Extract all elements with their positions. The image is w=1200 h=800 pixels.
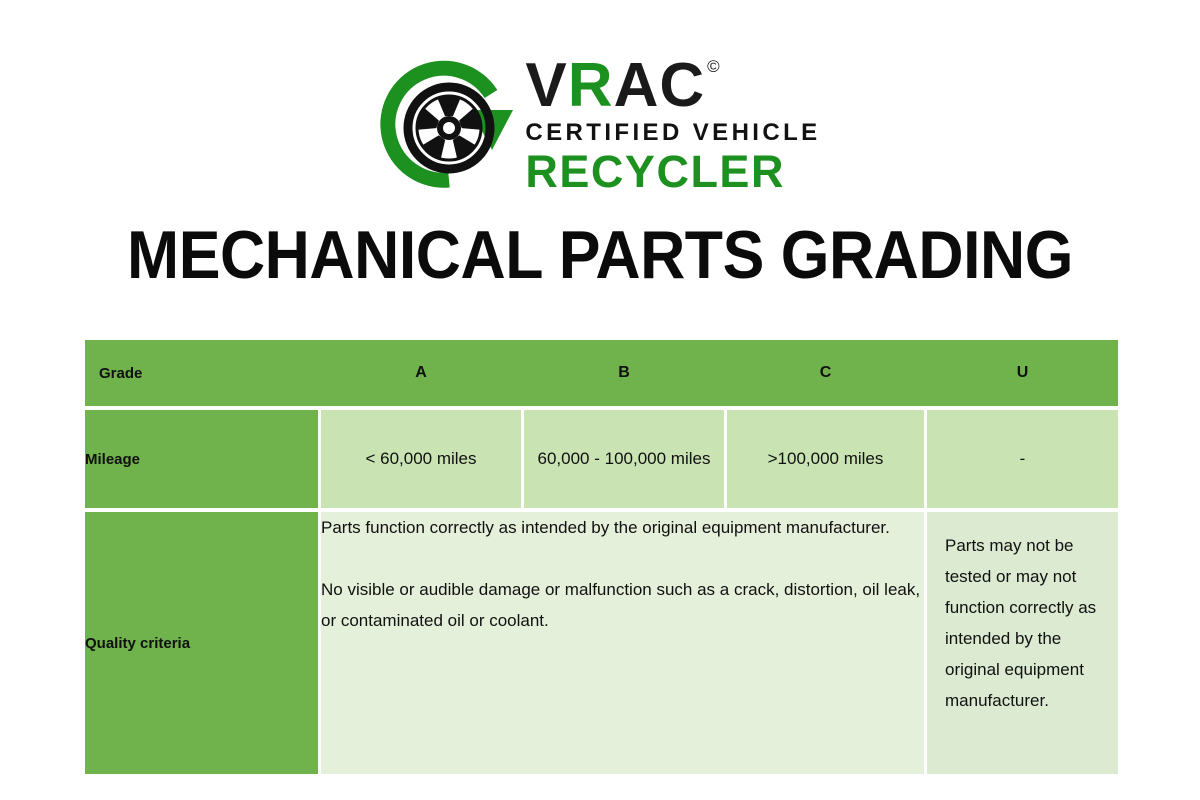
quality-paragraph-2: No visible or audible damage or malfunct… (321, 574, 924, 636)
page-title: MECHANICAL PARTS GRADING (48, 216, 1152, 294)
header-cell-b: B (524, 340, 724, 406)
logo-wordmark: VRAC© CERTIFIED VEHICLE RECYCLER (525, 52, 820, 196)
cell-mileage-u: - (927, 410, 1118, 508)
cell-mileage-b: 60,000 - 100,000 miles (524, 410, 724, 508)
logo-vrac: VRAC© (525, 54, 718, 118)
table-header-row: Grade A B C U (85, 340, 1118, 406)
row-label-quality-criteria: Quality criteria (85, 512, 318, 774)
logo-tagline: CERTIFIED VEHICLE (525, 119, 820, 147)
header-cell-grade: Grade (85, 340, 318, 406)
brand-logo: VRAC© CERTIFIED VEHICLE RECYCLER (0, 52, 1200, 202)
header-cell-u: U (927, 340, 1118, 406)
cell-mileage-a: < 60,000 miles (321, 410, 521, 508)
copyright-icon: © (707, 58, 721, 75)
logo-letter-v: V (525, 54, 567, 118)
logo-letters-ac: AC (614, 54, 706, 118)
row-label-mileage: Mileage (85, 410, 318, 508)
header-cell-a: A (321, 340, 521, 406)
logo-letter-r: R (568, 54, 614, 118)
mechanical-parts-grading-table: Grade A B C U Mileage < 60,000 miles 60,… (85, 340, 1118, 774)
recycle-wheel-icon (379, 54, 519, 196)
quality-paragraph-1: Parts function correctly as intended by … (321, 512, 924, 543)
table-row-quality-criteria: Quality criteria Parts function correctl… (85, 512, 1118, 774)
logo-recycler: RECYCLER (525, 148, 785, 196)
cell-quality-u: Parts may not be tested or may not funct… (927, 512, 1118, 774)
logo-inner: VRAC© CERTIFIED VEHICLE RECYCLER (379, 52, 820, 196)
header-cell-c: C (727, 340, 924, 406)
table-row-mileage: Mileage < 60,000 miles 60,000 - 100,000 … (85, 410, 1118, 508)
cell-mileage-c: >100,000 miles (727, 410, 924, 508)
cell-quality-abc: Parts function correctly as intended by … (321, 512, 924, 774)
